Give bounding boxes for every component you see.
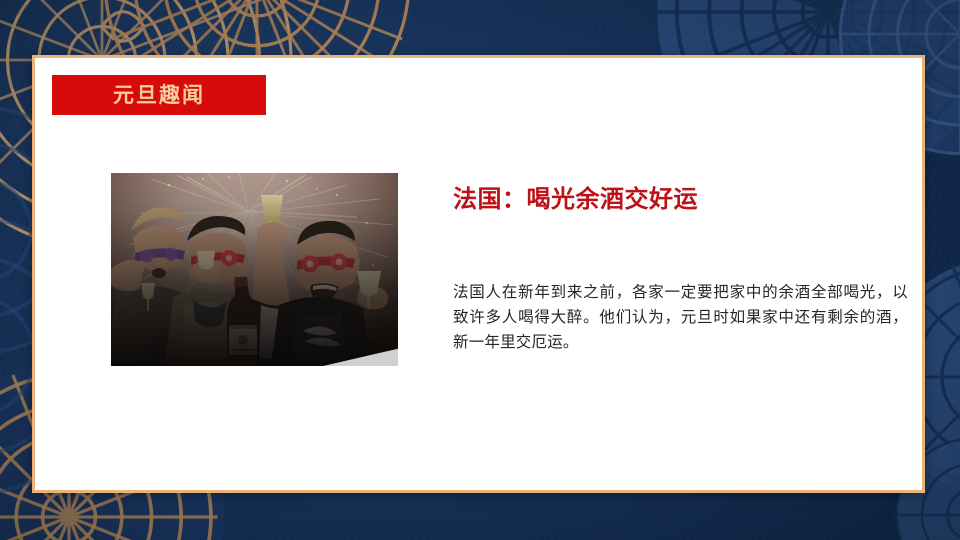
celebration-photo: 天天快报 Dailynews bbox=[111, 173, 398, 366]
slide-root: 元旦趣闻 bbox=[0, 0, 960, 540]
section-body-text: 法国人在新年到来之前，各家一定要把家中的余酒全部喝光，以致许多人喝得大醉。他们认… bbox=[453, 280, 908, 355]
content-card: 元旦趣闻 bbox=[32, 55, 925, 493]
section-headline: 法国：喝光余酒交好运 bbox=[453, 184, 908, 214]
title-banner-label: 元旦趣闻 bbox=[113, 85, 205, 106]
photo-image bbox=[111, 173, 398, 366]
text-column: 法国：喝光余酒交好运 法国人在新年到来之前，各家一定要把家中的余酒全部喝光，以致… bbox=[453, 184, 908, 355]
title-banner: 元旦趣闻 bbox=[52, 75, 266, 115]
